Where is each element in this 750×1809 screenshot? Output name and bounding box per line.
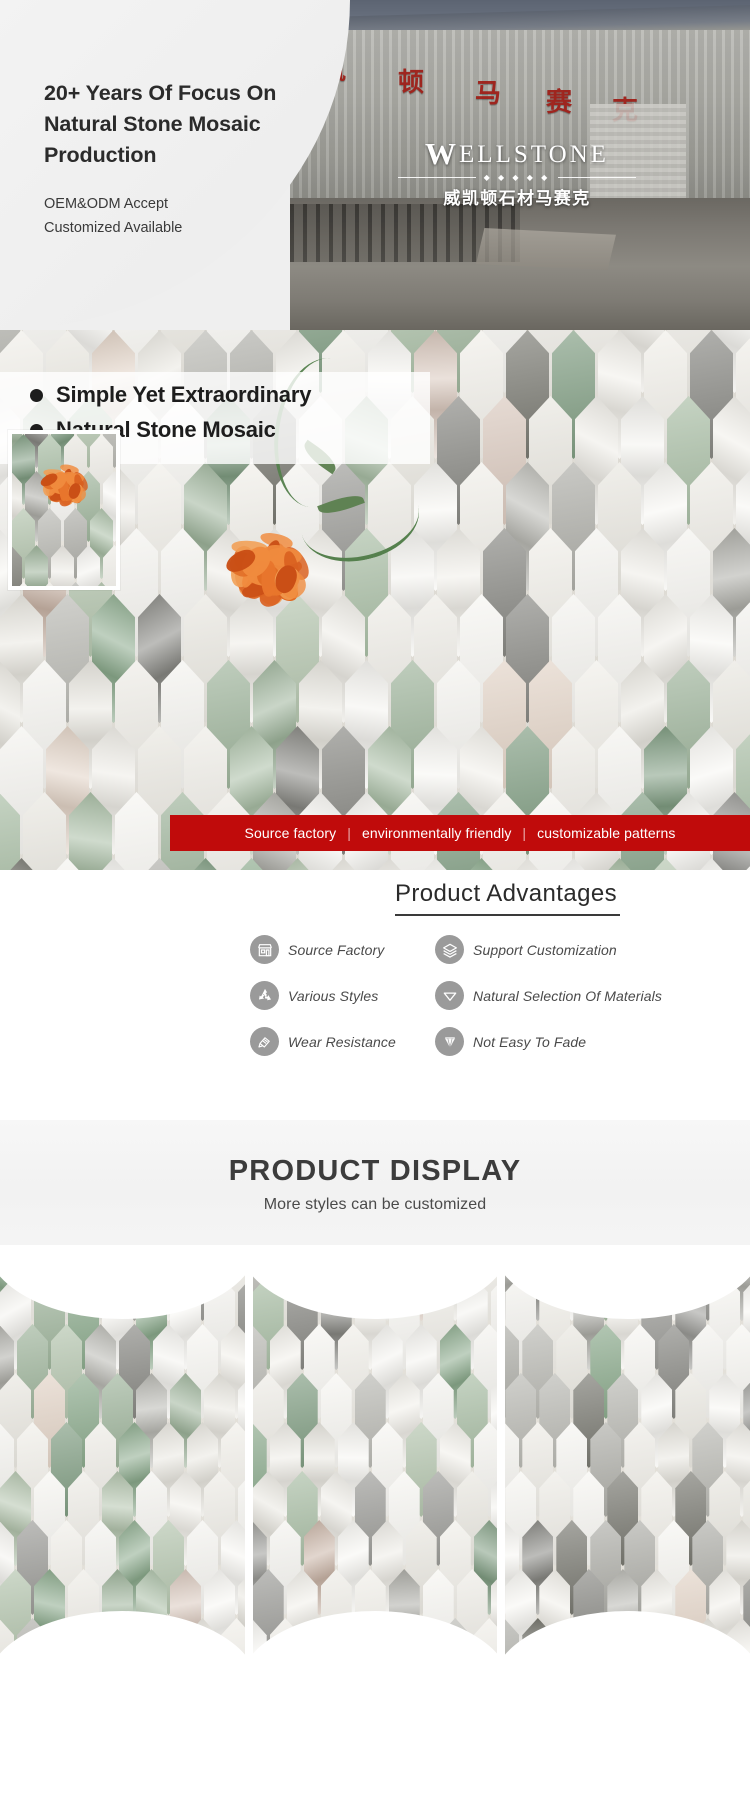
advantage-item: Wear Resistance xyxy=(250,1027,435,1056)
gallery-tile-image xyxy=(0,1275,245,1655)
display-title: PRODUCT DISPLAY xyxy=(0,1155,750,1188)
thumbnail-flower xyxy=(34,454,96,516)
product-advantages-section: Product Advantages Source Factory xyxy=(0,870,750,1120)
logo-w-letter: W xyxy=(425,136,459,171)
advantage-item: Support Customization xyxy=(435,935,617,964)
separator: | xyxy=(347,825,351,841)
gallery-tile[interactable] xyxy=(253,1275,498,1655)
hero-sub-line-2: Customized Available xyxy=(44,216,344,241)
bullet-label: Simple Yet Extraordinary xyxy=(56,382,311,408)
advantage-row: Various Styles Natural Selection Of Mate… xyxy=(250,981,720,1010)
chevron-down-icon xyxy=(435,981,464,1010)
gallery-tile[interactable] xyxy=(0,1275,245,1655)
product-display-section: PRODUCT DISPLAY More styles can be custo… xyxy=(0,1120,750,1809)
diamond-dots-icon: ◆ ◆ ◆ ◆ ◆ xyxy=(392,173,642,182)
recycle-icon xyxy=(250,981,279,1010)
advantage-label: Support Customization xyxy=(473,942,617,958)
section-title: Product Advantages xyxy=(395,880,620,908)
advantage-label: Source Factory xyxy=(288,942,384,958)
carnation-flower xyxy=(215,515,323,623)
separator: | xyxy=(522,825,526,841)
product-gallery xyxy=(0,1275,750,1655)
feature-strip-item-1: Source factory xyxy=(245,825,337,841)
sign-char-2: 顿 xyxy=(398,62,424,99)
sign-char-4: 赛 xyxy=(546,82,572,119)
hero-banner: 凯 顿 马 赛 克 20+ Years Of Focus On Natural … xyxy=(0,0,750,330)
advantage-row: Wear Resistance Not Easy To Fade xyxy=(250,1027,720,1056)
bullet-dot-icon xyxy=(30,389,43,402)
polish-cloth-icon xyxy=(250,1027,279,1056)
mosaic-hero-photo: Simple Yet Extraordinary Natural Stone M… xyxy=(0,330,750,870)
thumbnail-inset[interactable] xyxy=(8,430,120,590)
feature-strip-banner: Source factory | environmentally friendl… xyxy=(170,815,750,851)
hero-sub-line-1: OEM&ODM Accept xyxy=(44,192,344,217)
brand-logo: WELLSTONE ◆ ◆ ◆ ◆ ◆ 威凯顿石材马赛克 xyxy=(392,136,642,209)
layers-icon xyxy=(435,935,464,964)
gallery-tile-image xyxy=(253,1275,498,1655)
advantage-label: Various Styles xyxy=(288,988,378,1004)
hero-copy: 20+ Years Of Focus On Natural Stone Mosa… xyxy=(44,78,344,241)
advantage-item: Various Styles xyxy=(250,981,435,1010)
gallery-tile-image xyxy=(505,1275,750,1655)
display-subtitle: More styles can be customized xyxy=(0,1196,750,1214)
advantage-item: Natural Selection Of Materials xyxy=(435,981,662,1010)
brand-chinese-name: 威凯顿石材马赛克 xyxy=(392,184,642,209)
advantage-row: Source Factory Support Customization xyxy=(250,935,720,964)
diamond-icon xyxy=(435,1027,464,1056)
advantage-item: Source Factory xyxy=(250,935,435,964)
list-item: Simple Yet Extraordinary xyxy=(30,382,311,408)
feature-strip-item-3: customizable patterns xyxy=(537,825,675,841)
hero-subtext: OEM&ODM Accept Customized Available xyxy=(44,192,344,242)
factory-signage: 凯 顿 马 赛 克 xyxy=(290,34,750,104)
feature-strip-text: Source factory | environmentally friendl… xyxy=(245,825,676,841)
brand-wordmark: WELLSTONE xyxy=(392,136,642,172)
hero-title: 20+ Years Of Focus On Natural Stone Mosa… xyxy=(44,78,344,172)
feature-strip-item-2: environmentally friendly xyxy=(362,825,511,841)
advantage-grid: Source Factory Support Customization xyxy=(250,935,720,1073)
logo-ornament-rule: ◆ ◆ ◆ ◆ ◆ xyxy=(392,173,642,182)
gallery-tile[interactable] xyxy=(505,1275,750,1655)
sign-char-3: 马 xyxy=(475,73,501,110)
logo-rest-letters: ELLSTONE xyxy=(459,141,609,168)
product-advantages-heading: Product Advantages xyxy=(395,880,620,916)
advantage-label: Not Easy To Fade xyxy=(473,1034,586,1050)
advantage-label: Wear Resistance xyxy=(288,1034,396,1050)
factory-yard xyxy=(290,198,750,330)
advantage-item: Not Easy To Fade xyxy=(435,1027,586,1056)
title-underline xyxy=(395,914,620,916)
advantage-label: Natural Selection Of Materials xyxy=(473,988,662,1004)
shop-icon xyxy=(250,935,279,964)
